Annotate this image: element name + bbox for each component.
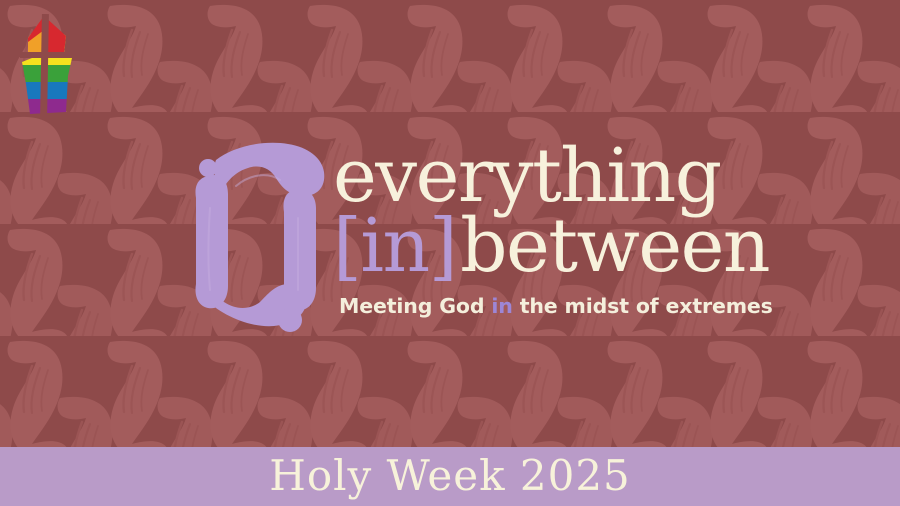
bracket-close: ]: [429, 203, 456, 289]
headline-line-1: everything: [333, 142, 863, 210]
slide-canvas: everything [in]between Meeting God in th…: [0, 0, 900, 506]
subtitle-before: Meeting God: [339, 294, 491, 318]
bottom-banner: Holy Week 2025: [0, 447, 900, 506]
headline-block: everything [in]between Meeting God in th…: [333, 142, 863, 318]
headline-bracketed-in: [in]: [333, 203, 460, 289]
subtitle: Meeting God in the midst of extremes: [339, 294, 863, 318]
headline-word-in: in: [360, 203, 428, 289]
bracket-open: [: [333, 203, 360, 289]
headline-word-between: between: [460, 203, 769, 289]
banner-title: Holy Week 2025: [269, 455, 631, 497]
subtitle-after: the midst of extremes: [513, 294, 773, 318]
bracket-scroll-mark: [190, 138, 330, 344]
subtitle-highlight-in: in: [491, 294, 512, 318]
headline-line-2: [in]between: [333, 212, 863, 280]
presbyterian-pride-cross-logo: [14, 14, 76, 118]
